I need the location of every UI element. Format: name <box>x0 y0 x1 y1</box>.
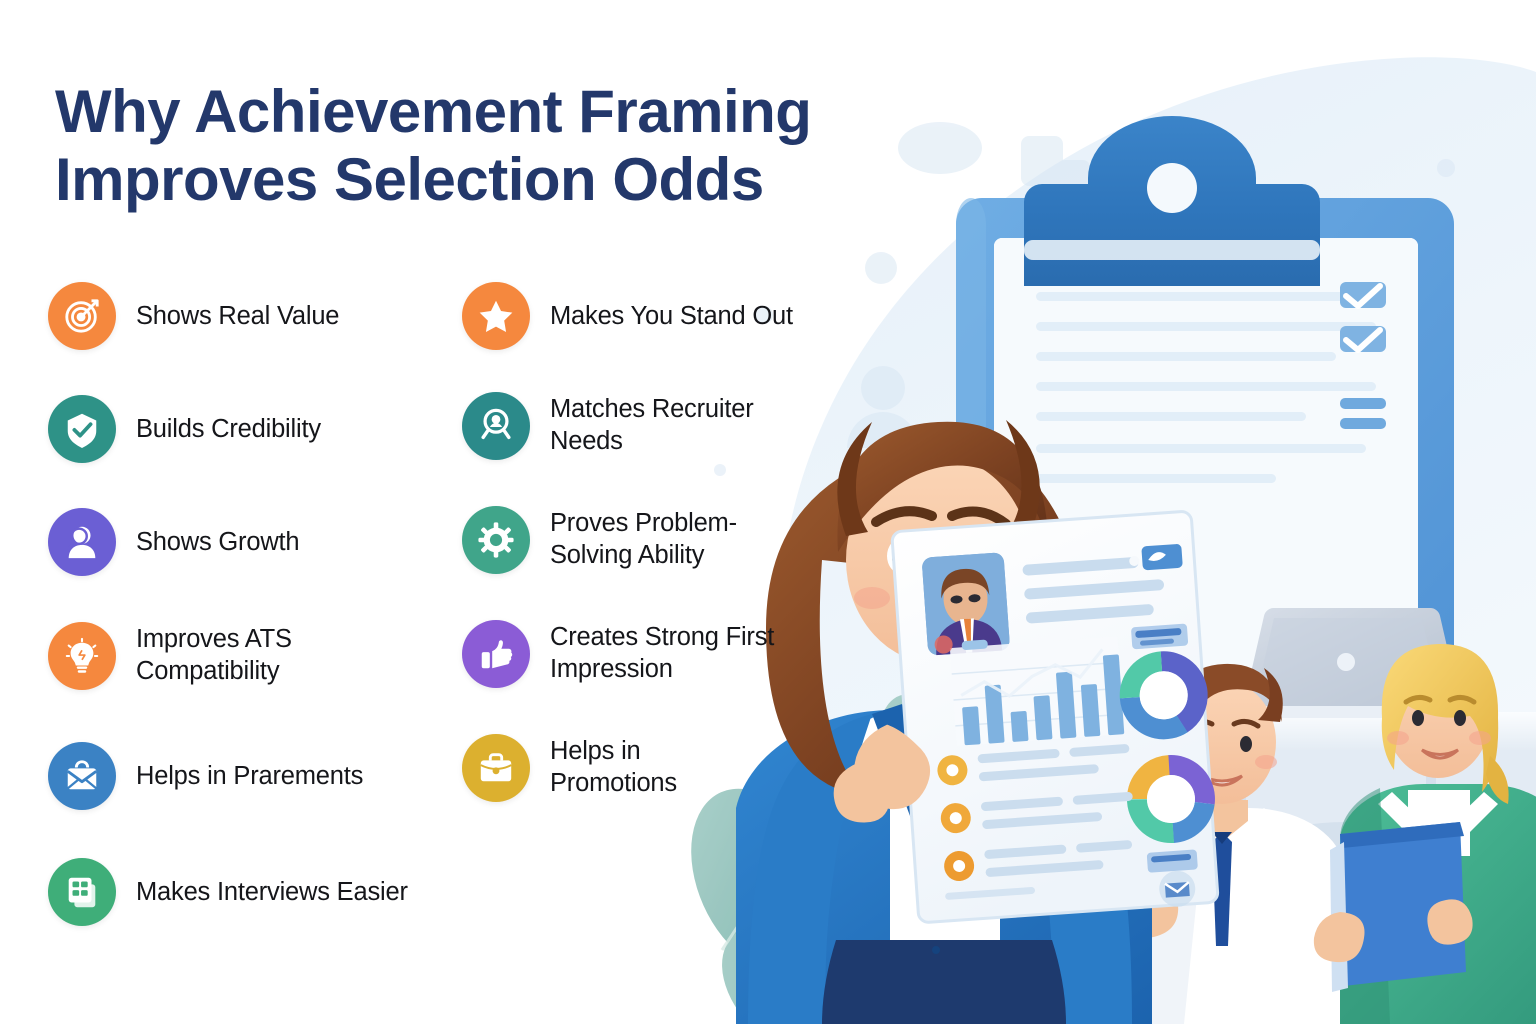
title-line-2: Improves Selection Odds <box>55 146 935 214</box>
mail-briefcase-icon <box>48 742 116 810</box>
benefit-label: Helps in Prarements <box>136 760 363 792</box>
infographic-canvas: Why Achievement Framing Improves Selecti… <box>0 0 1536 1024</box>
star-icon <box>462 282 530 350</box>
benefit-item-shows-real-value[interactable]: Shows Real Value <box>48 282 339 350</box>
magnifier-person-icon <box>462 392 530 460</box>
benefit-label: Improves ATS Compatibility <box>136 624 386 688</box>
benefit-item-helps-in-promotions[interactable]: Helps in Promotions <box>462 734 750 802</box>
benefit-item-shows-growth[interactable]: Shows Growth <box>48 508 299 576</box>
title-line-1: Why Achievement Framing <box>55 78 811 145</box>
benefit-label: Creates Strong First Impression <box>550 622 775 686</box>
gear-icon <box>462 506 530 574</box>
benefit-item-makes-you-stand-out[interactable]: Makes You Stand Out <box>462 282 793 350</box>
thumbs-up-icon <box>462 620 530 688</box>
benefit-label: Helps in Promotions <box>550 736 750 800</box>
benefit-item-helps-in-prarements[interactable]: Helps in Prarements <box>48 742 363 810</box>
benefit-label: Builds Credibility <box>136 413 321 445</box>
benefit-label: Makes Interviews Easier <box>136 876 408 908</box>
briefcase-icon <box>462 734 530 802</box>
calendar-list-icon <box>48 858 116 926</box>
benefit-item-proves-problem-solving-ability[interactable]: Proves Problem-Solving Ability <box>462 506 765 574</box>
benefit-item-creates-strong-first-impression[interactable]: Creates Strong First Impression <box>462 620 775 688</box>
benefit-item-makes-interviews-easier[interactable]: Makes Interviews Easier <box>48 858 408 926</box>
target-icon <box>48 282 116 350</box>
benefit-label: Makes You Stand Out <box>550 300 793 332</box>
shield-check-icon <box>48 395 116 463</box>
lightbulb-icon <box>48 622 116 690</box>
page-title: Why Achievement Framing Improves Selecti… <box>55 78 935 214</box>
benefit-item-improves-ats-compatibility[interactable]: Improves ATS Compatibility <box>48 622 386 690</box>
benefit-label: Shows Real Value <box>136 300 339 332</box>
benefit-item-builds-credibility[interactable]: Builds Credibility <box>48 395 321 463</box>
benefit-label: Proves Problem-Solving Ability <box>550 508 765 572</box>
benefit-item-matches-recruiter-needs[interactable]: Matches Recruiter Needs <box>462 392 765 460</box>
person-search-icon <box>48 508 116 576</box>
benefit-label: Matches Recruiter Needs <box>550 394 765 458</box>
benefit-label: Shows Growth <box>136 526 299 558</box>
